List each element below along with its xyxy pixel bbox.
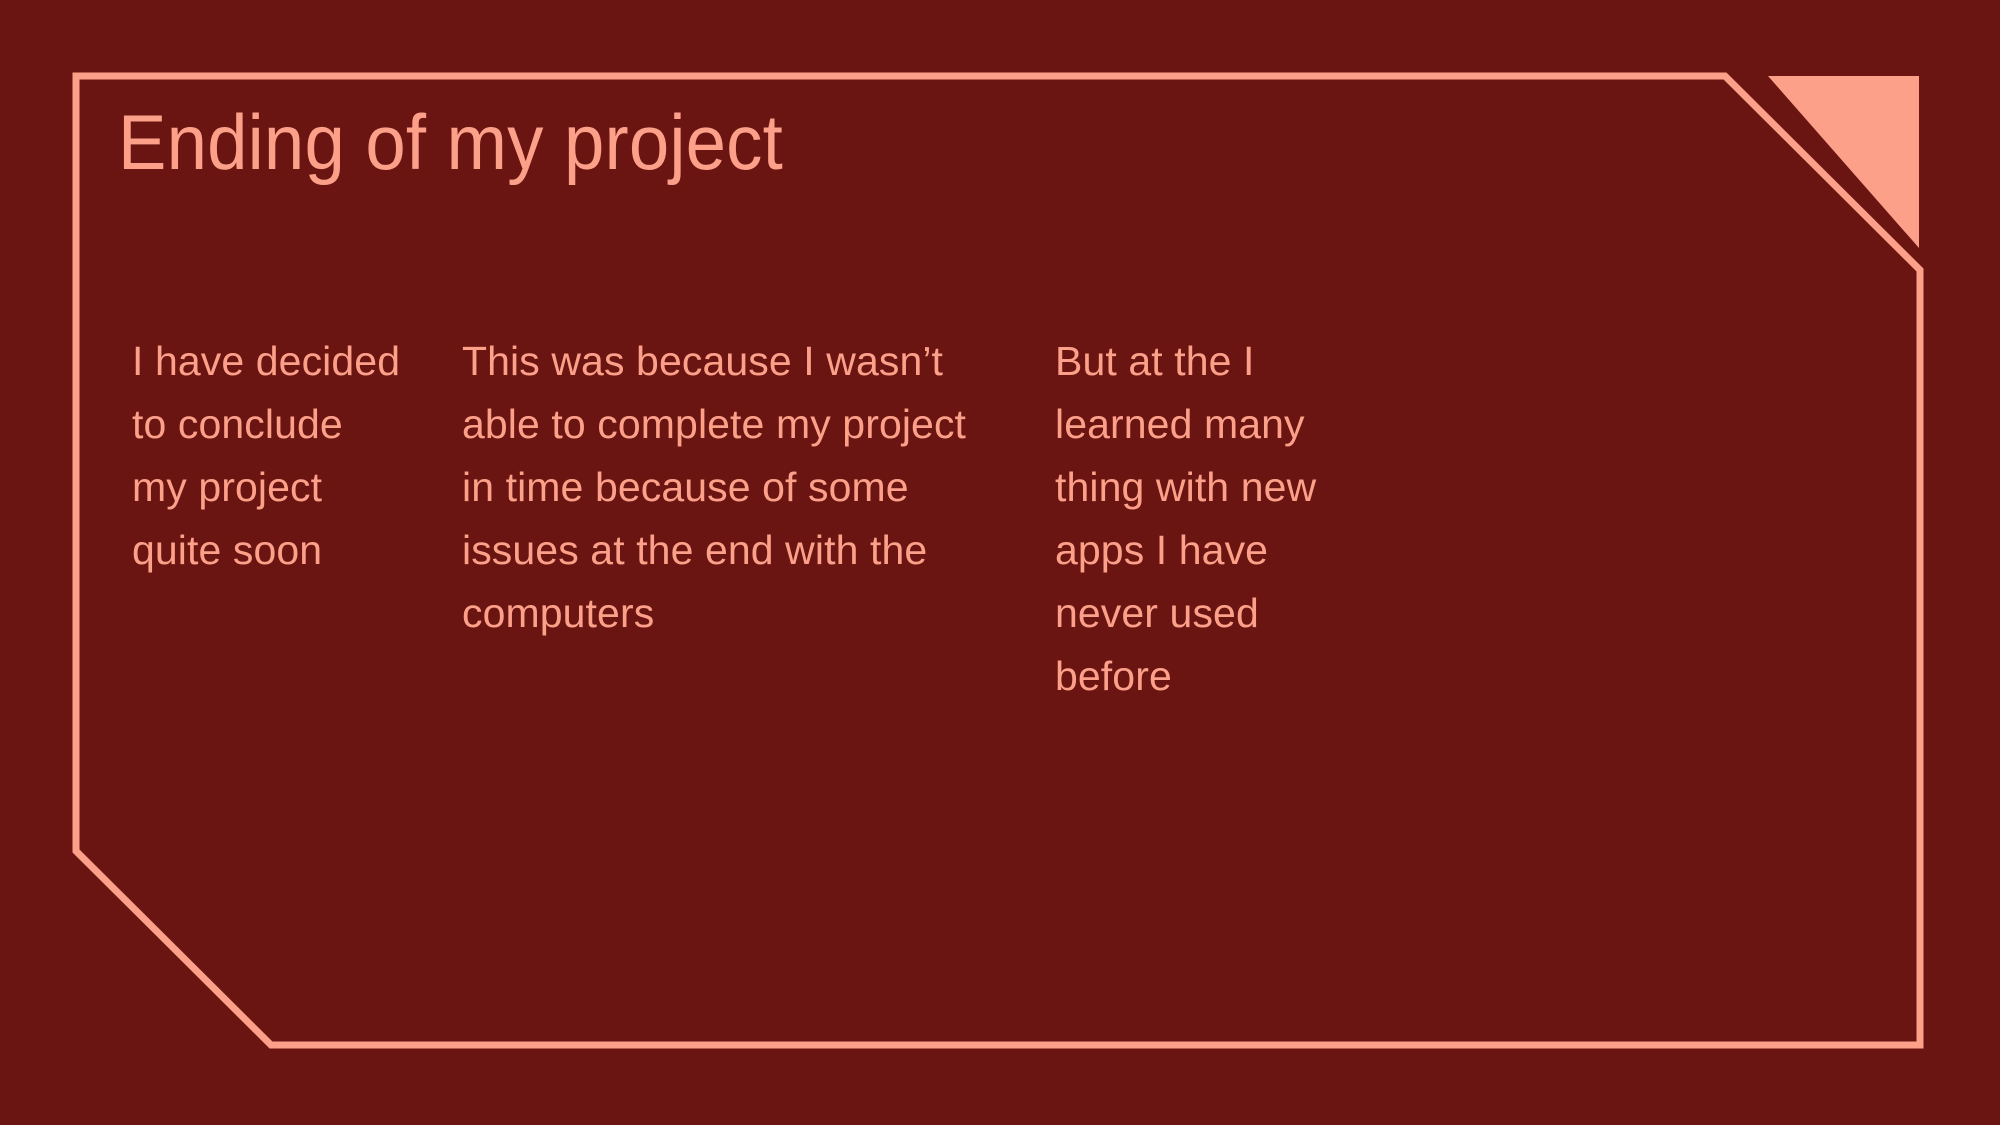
slide: Ending of my project I have decided to c… [0,0,2000,1125]
text-column-2: This was because I wasn’t able to comple… [462,330,1002,645]
corner-triangle-accent [1768,76,1919,248]
content-columns: I have decided to conclude my project qu… [0,330,2000,930]
text-column-3: But at the I learned many thing with new… [1055,330,1345,708]
page-title: Ending of my project [118,103,1513,181]
text-column-1: I have decided to conclude my project qu… [132,330,404,582]
